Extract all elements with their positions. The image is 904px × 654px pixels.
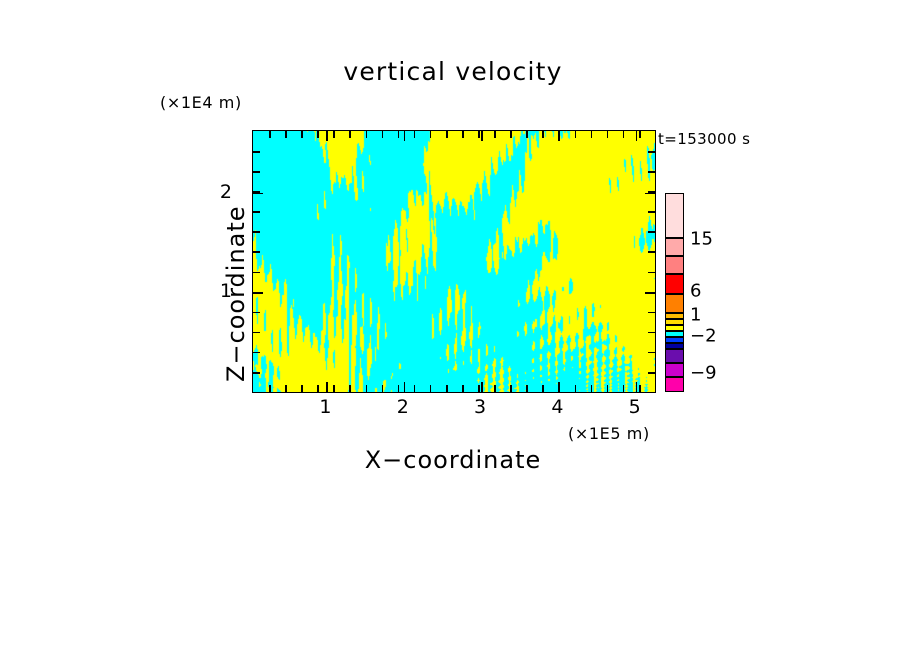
colorbar-tick-label: −9 xyxy=(690,363,717,384)
tick-right xyxy=(648,251,655,253)
tick-top xyxy=(526,131,528,138)
tick-bottom xyxy=(349,385,351,392)
tick-right xyxy=(648,312,655,314)
tick-right xyxy=(648,211,655,213)
tick-bottom xyxy=(430,385,432,392)
tick-bottom xyxy=(494,385,496,392)
colorbar-tick-label: −2 xyxy=(690,326,717,347)
x-tick-label: 2 xyxy=(397,396,409,418)
tick-top xyxy=(398,131,400,138)
tick-top xyxy=(285,131,287,138)
colorbar-band-divider xyxy=(666,273,683,275)
y-tick-label: 2 xyxy=(220,181,232,203)
tick-top xyxy=(404,131,406,141)
tick-bottom xyxy=(591,385,593,392)
tick-bottom xyxy=(558,382,560,392)
tick-bottom xyxy=(462,385,464,392)
tick-bottom xyxy=(382,385,384,392)
tick-right xyxy=(648,372,655,374)
colorbar-band xyxy=(666,294,683,313)
colorbar-band-divider xyxy=(666,255,683,257)
tick-bottom xyxy=(478,385,480,392)
tick-top xyxy=(462,131,464,138)
tick-bottom xyxy=(414,385,416,392)
tick-bottom xyxy=(404,382,406,392)
colorbar-band xyxy=(666,377,683,391)
colorbar-band xyxy=(666,274,683,294)
tick-bottom xyxy=(510,385,512,392)
tick-top xyxy=(575,131,577,138)
tick-right xyxy=(645,292,655,294)
tick-top xyxy=(414,131,416,138)
tick-left xyxy=(253,372,260,374)
colorbar-band-divider xyxy=(666,312,683,314)
tick-right xyxy=(648,231,655,233)
tick-top xyxy=(591,131,593,138)
tick-left xyxy=(253,151,260,153)
colorbar-band xyxy=(666,349,683,363)
colorbar-band-divider xyxy=(666,376,683,378)
tick-top xyxy=(639,131,641,138)
tick-bottom xyxy=(326,382,328,392)
colorbar-band-divider xyxy=(666,330,683,332)
tick-top xyxy=(301,131,303,138)
tick-right xyxy=(648,272,655,274)
colorbar-band-divider xyxy=(666,324,683,326)
colorbar-band xyxy=(666,363,683,377)
tick-right xyxy=(648,171,655,173)
tick-left xyxy=(253,292,263,294)
y-tick-label: 1 xyxy=(220,280,232,302)
tick-top xyxy=(349,131,351,138)
time-annotation: t=153000 s xyxy=(658,130,750,148)
tick-right xyxy=(645,193,655,195)
x-tick-label: 3 xyxy=(474,396,486,418)
tick-top xyxy=(481,131,483,141)
tick-top xyxy=(333,131,335,138)
tick-bottom xyxy=(446,385,448,392)
tick-bottom xyxy=(623,385,625,392)
tick-left xyxy=(253,211,260,213)
tick-bottom xyxy=(526,385,528,392)
colorbar-tick-label: 1 xyxy=(690,305,701,326)
tick-right xyxy=(648,352,655,354)
plot-area xyxy=(252,130,656,393)
colorbar-band xyxy=(666,194,683,238)
tick-left xyxy=(253,251,260,253)
x-tick-label: 4 xyxy=(551,396,563,418)
colorbar-band-divider xyxy=(666,362,683,364)
tick-bottom xyxy=(366,385,368,392)
x-axis-unit-label: (×1E5 m) xyxy=(568,424,650,443)
tick-left xyxy=(253,193,263,195)
tick-top xyxy=(382,131,384,138)
tick-bottom xyxy=(285,385,287,392)
tick-bottom xyxy=(301,385,303,392)
tick-left xyxy=(253,332,260,334)
x-tick-label: 1 xyxy=(319,396,331,418)
colorbar xyxy=(665,193,684,392)
tick-top xyxy=(607,131,609,138)
tick-top xyxy=(430,131,432,138)
tick-top xyxy=(269,131,271,138)
tick-top xyxy=(510,131,512,138)
tick-bottom xyxy=(639,385,641,392)
tick-bottom xyxy=(636,382,638,392)
tick-top xyxy=(478,131,480,138)
tick-bottom xyxy=(269,385,271,392)
tick-bottom xyxy=(575,385,577,392)
x-axis-title: X−coordinate xyxy=(252,446,654,474)
tick-top xyxy=(366,131,368,138)
tick-bottom xyxy=(398,385,400,392)
colorbar-band xyxy=(666,256,683,274)
colorbar-band-divider xyxy=(666,336,683,338)
tick-top xyxy=(623,131,625,138)
y-axis-unit-label: (×1E4 m) xyxy=(160,93,242,112)
tick-left xyxy=(253,171,260,173)
tick-right xyxy=(648,332,655,334)
colorbar-band-divider xyxy=(666,237,683,239)
tick-top xyxy=(494,131,496,138)
tick-top xyxy=(326,131,328,141)
tick-bottom xyxy=(333,385,335,392)
tick-bottom xyxy=(542,385,544,392)
tick-left xyxy=(253,312,260,314)
colorbar-tick-label: 15 xyxy=(690,229,713,250)
x-tick-label: 5 xyxy=(629,396,641,418)
tick-top xyxy=(317,131,319,138)
tick-bottom xyxy=(607,385,609,392)
colorbar-tick-label: 6 xyxy=(690,281,701,302)
colorbar-band-divider xyxy=(666,342,683,344)
tick-bottom xyxy=(481,382,483,392)
tick-left xyxy=(253,272,260,274)
tick-left xyxy=(253,231,260,233)
tick-right xyxy=(648,151,655,153)
colorbar-band xyxy=(666,238,683,256)
tick-top xyxy=(636,131,638,141)
tick-top xyxy=(446,131,448,138)
tick-top xyxy=(558,131,560,141)
tick-bottom xyxy=(317,385,319,392)
page-title: vertical velocity xyxy=(252,57,654,86)
figure-canvas: vertical velocity (×1E4 m) (×1E5 m) t=15… xyxy=(0,0,904,654)
tick-top xyxy=(542,131,544,138)
tick-left xyxy=(253,352,260,354)
colorbar-band-divider xyxy=(666,293,683,295)
vertical-velocity-contour-field xyxy=(253,131,655,392)
colorbar-band-divider xyxy=(666,348,683,350)
colorbar-band-divider xyxy=(666,318,683,320)
